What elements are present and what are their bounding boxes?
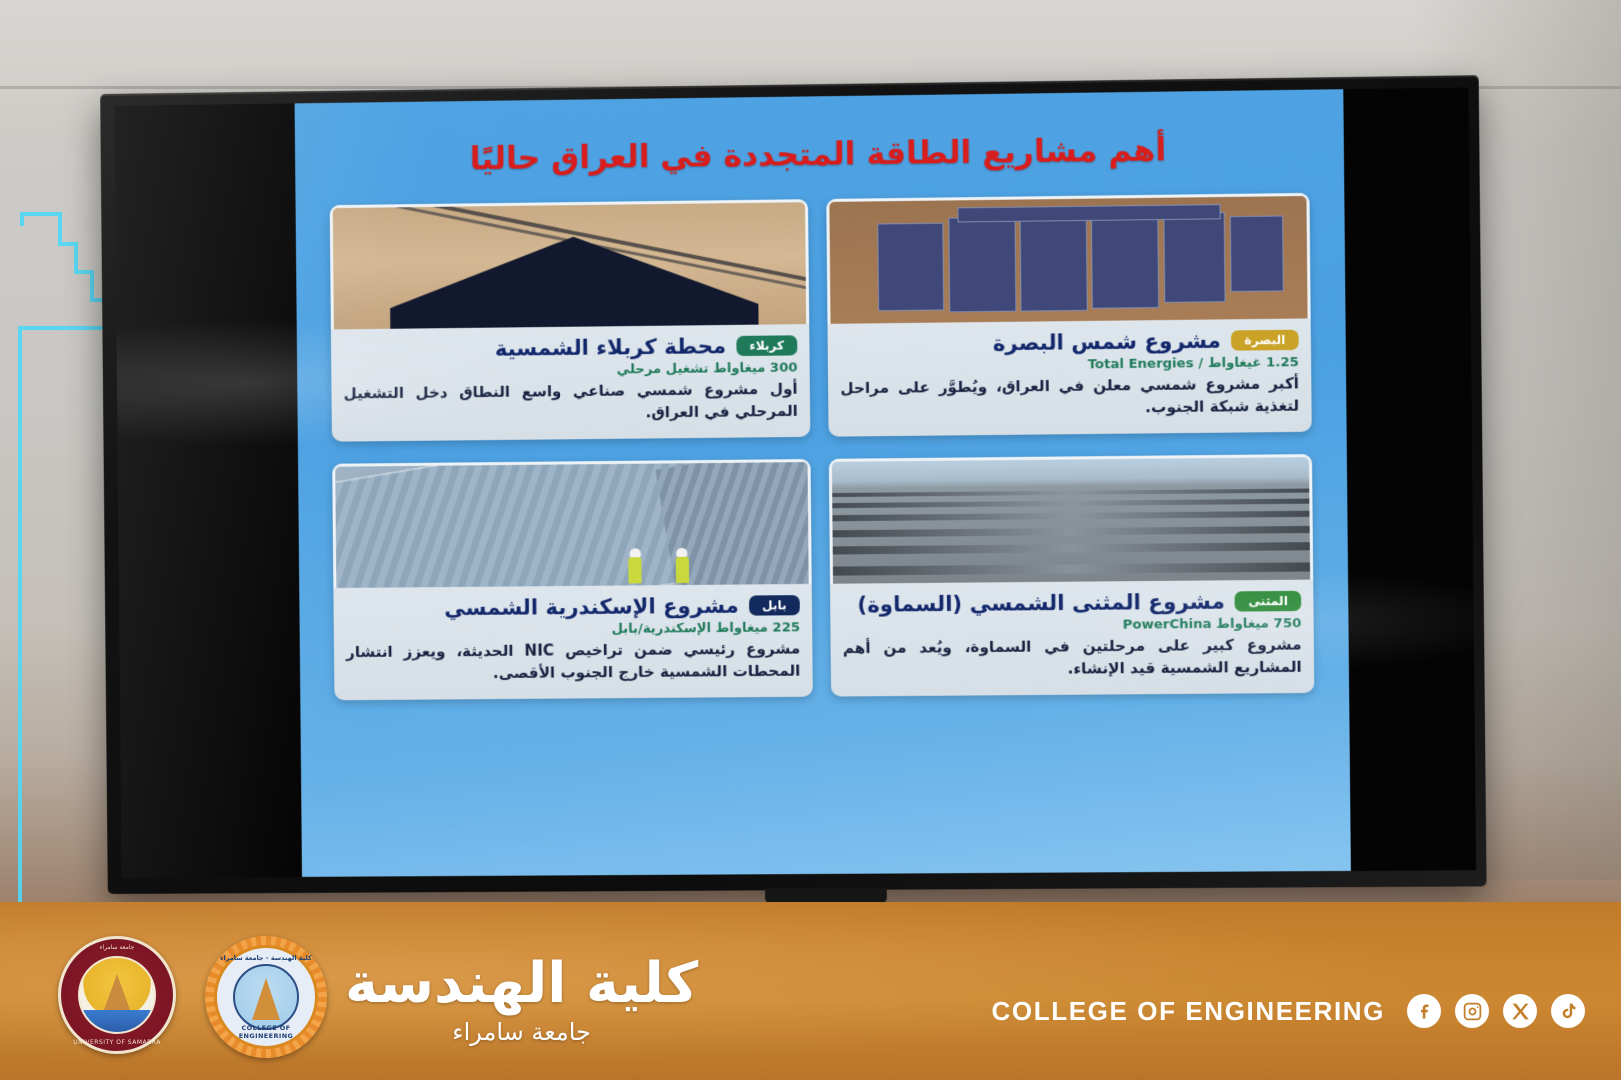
project-description: أول مشروع شمسي صناعي واسع النطاق دخل الت… [343,379,798,427]
display-screen: أهم مشاريع الطاقة المتجددة في العراق حال… [114,87,1476,877]
province-badge: بابل [749,595,800,616]
project-photo-alexandria [332,459,812,588]
university-of-samarra-crest-icon: جامعة سامراء UNIVERSITY OF SAMARRA [58,936,176,1054]
x-twitter-icon[interactable] [1503,994,1537,1028]
wall-mounted-display: أهم مشاريع الطاقة المتجددة في العراق حال… [100,75,1486,894]
college-of-engineering-seal-icon: كلية الهندسة - جامعة سامراء COLLEGE OF E… [205,936,327,1058]
project-subtitle: 1.25 غيغاواط / Total Energies [840,355,1299,375]
project-title: مشروع الإسكندرية الشمسي [346,592,739,622]
project-card-body: البصرة مشروع شمس البصرة 1.25 غيغاواط / T… [827,318,1311,424]
seal-ring-bottom-text: COLLEGE OF ENGINEERING [217,1024,315,1040]
presentation-slide: أهم مشاريع الطاقة المتجددة في العراق حال… [295,89,1351,877]
project-photo-karbala [330,199,810,329]
social-links [1407,994,1585,1028]
province-badge: البصرة [1231,330,1299,351]
facebook-icon[interactable] [1407,994,1441,1028]
project-card-body: كربلاء محطة كربلاء الشمسية 300 ميغاواط ت… [331,324,810,429]
project-description: أكبر مشروع شمسي معلن في العراق، ويُطوَّر… [840,373,1299,422]
footer-university-name-ar: جامعة سامراء [345,1018,698,1046]
project-card[interactable]: المثنى مشروع المثنى الشمسي (السماوة) 750… [829,454,1315,696]
project-card[interactable]: بابل مشروع الإسكندرية الشمسي 225 ميغاواط… [332,459,813,700]
province-badge: المثنى [1235,591,1301,612]
seal-ring-top-text: كلية الهندسة - جامعة سامراء [217,954,315,962]
room-scene: أهم مشاريع الطاقة المتجددة في العراق حال… [0,0,1621,1080]
instagram-icon[interactable] [1455,994,1489,1028]
project-description: مشروع كبير على مرحلتين في السماوة، ويُعد… [843,634,1302,682]
project-card-body: بابل مشروع الإسكندرية الشمسي 225 ميغاواط… [333,584,812,688]
project-subtitle: 750 ميغاواط PowerChina [843,616,1302,635]
project-title: مشروع شمس البصرة [840,328,1221,359]
project-subtitle: 300 ميغاواط تشغيل مرحلي [343,361,797,381]
project-card-header: البصرة مشروع شمس البصرة [840,327,1299,359]
project-title: مشروع المثنى الشمسي (السماوة) [842,588,1225,618]
footer-right-group: COLLEGE OF ENGINEERING [992,994,1585,1028]
letterbox-left [114,103,302,878]
project-card[interactable]: البصرة مشروع شمس البصرة 1.25 غيغاواط / T… [826,193,1311,437]
province-badge: كربلاء [736,335,797,356]
crest-ring-bottom-text: UNIVERSITY OF SAMARRA [73,1039,161,1046]
project-card-header: بابل مشروع الإسكندرية الشمسي [346,592,800,622]
crest-ring-top-text: جامعة سامراء [100,944,135,951]
project-photo-basra [826,193,1310,324]
project-card-grid: البصرة مشروع شمس البصرة 1.25 غيغاواط / T… [330,193,1315,700]
project-photo-muthanna [829,454,1313,584]
footer-banner: جامعة سامراء UNIVERSITY OF SAMARRA كلية … [0,902,1621,1080]
project-description: مشروع رئيسي ضمن تراخيص NIC الحديثة، ويعز… [346,638,801,685]
project-card-body: المثنى مشروع المثنى الشمسي (السماوة) 750… [830,579,1314,684]
project-card-header: كربلاء محطة كربلاء الشمسية [343,332,797,363]
tiktok-icon[interactable] [1551,994,1585,1028]
project-card-header: المثنى مشروع المثنى الشمسي (السماوة) [842,588,1301,618]
slide-title: أهم مشاريع الطاقة المتجددة في العراق حال… [329,130,1309,179]
footer-arabic-wordmark: كلية الهندسة جامعة سامراء [345,955,698,1046]
project-title: محطة كربلاء الشمسية [343,333,726,364]
footer-college-name-en: COLLEGE OF ENGINEERING [992,996,1385,1027]
footer-college-name-ar: كلية الهندسة [345,955,698,1014]
project-card[interactable]: كربلاء محطة كربلاء الشمسية 300 ميغاواط ت… [330,199,811,441]
project-subtitle: 225 ميغاواط الإسكندرية/بابل [346,620,800,639]
